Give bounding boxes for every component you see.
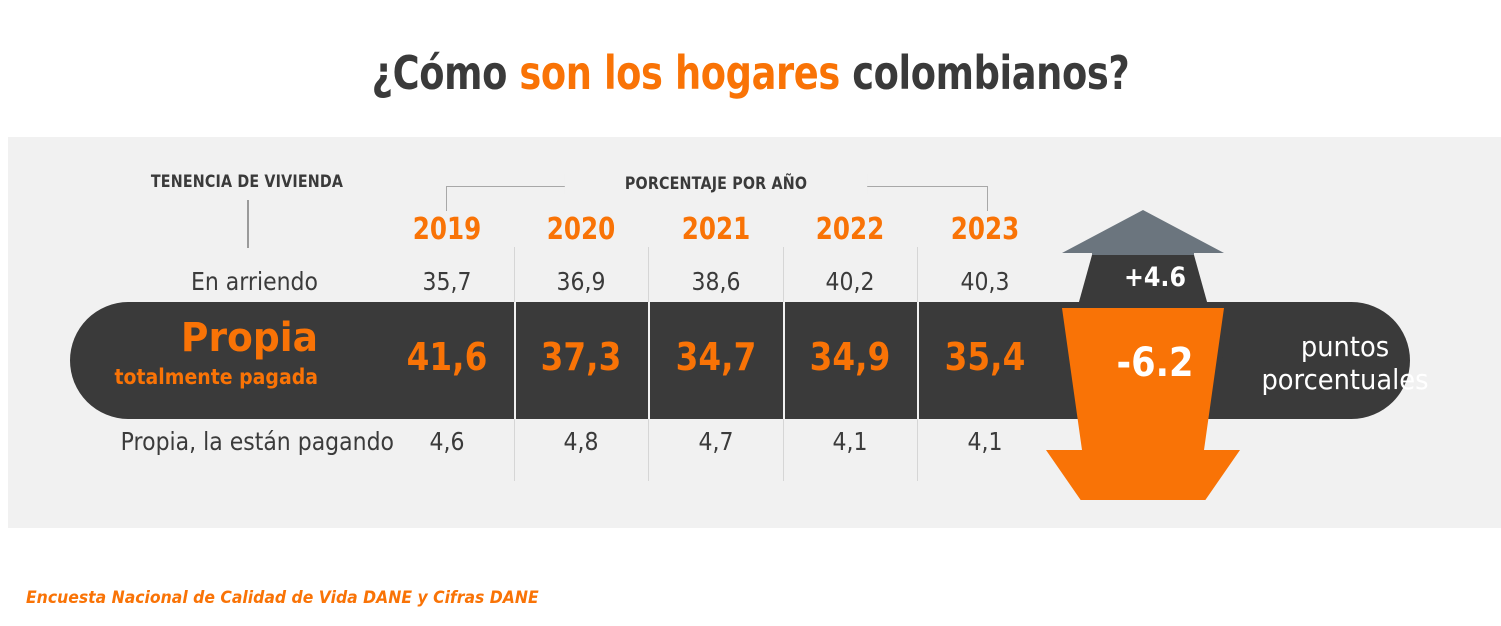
year-label-2019: 2019: [398, 212, 496, 247]
table-cell: 4,8: [528, 427, 634, 456]
row-sublabel-totalmente-pagada: totalmente pagada: [86, 365, 318, 389]
source-note: Encuesta Nacional de Calidad de Vida DAN…: [26, 588, 539, 608]
change-unit-label: puntos porcentuales: [1244, 330, 1446, 396]
table-cell: 4,1: [932, 427, 1038, 456]
title-part-1: ¿Cómo: [372, 46, 520, 100]
page-title: ¿Cómo son los hogares colombianos?: [150, 46, 1351, 100]
pill-column-separator: [783, 302, 785, 419]
change-value-down: -6.2: [1045, 340, 1265, 386]
table-cell: 38,6: [663, 267, 769, 296]
table-cell: 4,1: [797, 427, 903, 456]
table-cell: 4,6: [394, 427, 500, 456]
year-label-2023: 2023: [936, 212, 1034, 247]
pill-column-separator: [917, 302, 919, 419]
table-cell-highlighted: 41,6: [391, 335, 503, 379]
change-unit-line-2: porcentuales: [1244, 363, 1446, 396]
title-part-2: colombianos?: [840, 46, 1129, 100]
change-value-up: +4.6: [1045, 262, 1265, 293]
year-label-2020: 2020: [532, 212, 630, 247]
table-cell-highlighted: 37,3: [525, 335, 637, 379]
change-callout-group: +4.6 -6.2: [1030, 200, 1280, 500]
title-highlight: son los hogares: [519, 46, 839, 100]
table-cell: 40,2: [797, 267, 903, 296]
tenencia-tick-mark: [247, 200, 249, 248]
header-porcentaje-por-ano: PORCENTAJE POR AÑO: [565, 174, 867, 194]
table-cell: 36,9: [528, 267, 634, 296]
row-label-en-arriendo: En arriendo: [91, 267, 318, 296]
table-cell: 40,3: [932, 267, 1038, 296]
pill-column-separator: [648, 302, 650, 419]
year-label-2022: 2022: [801, 212, 899, 247]
table-cell: 35,7: [394, 267, 500, 296]
down-arrow-icon: [1030, 300, 1280, 500]
year-label-2021: 2021: [667, 212, 765, 247]
table-cell: 4,7: [663, 427, 769, 456]
table-cell-highlighted: 34,9: [794, 335, 906, 379]
header-tenencia-de-vivienda: TENENCIA DE VIVIENDA: [142, 172, 352, 192]
table-cell-highlighted: 34,7: [660, 335, 772, 379]
row-label-propia: Propia: [75, 318, 318, 358]
infographic-canvas: ¿Cómo son los hogares colombianos? TENEN…: [0, 0, 1501, 626]
table-cell-highlighted: 35,4: [929, 335, 1041, 379]
change-unit-line-1: puntos: [1244, 330, 1446, 363]
row-label-propia-la-estan-pagando: Propia, la están pagando: [100, 427, 394, 456]
pill-column-separator: [514, 302, 516, 419]
